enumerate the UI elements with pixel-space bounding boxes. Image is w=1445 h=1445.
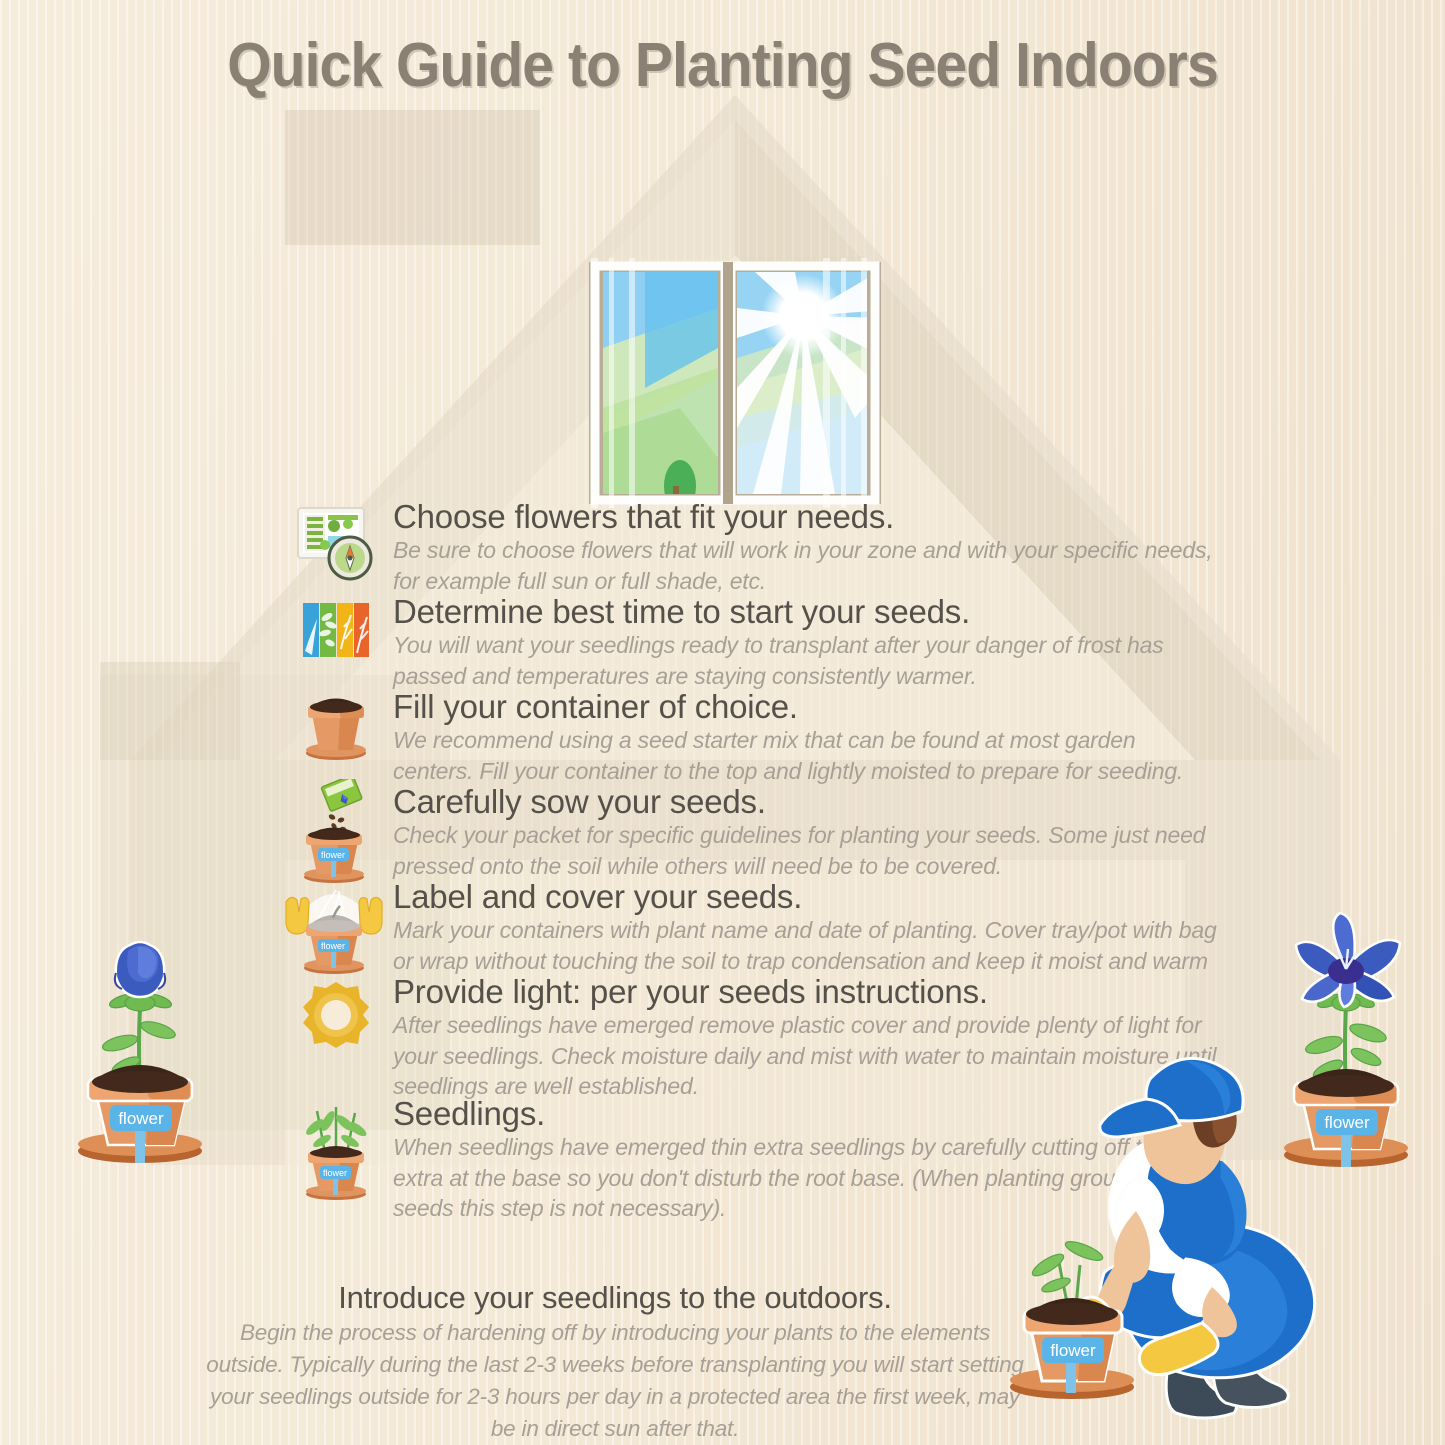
step-description: We recommend using a seed starter mix th… xyxy=(393,725,1218,786)
step-text: Carefully sow your seeds. Check your pac… xyxy=(393,785,1218,881)
step-description: Check your packet for specific guideline… xyxy=(393,820,1218,881)
step-heading: Choose flowers that fit your needs. xyxy=(393,500,1218,535)
sun-ring-icon xyxy=(288,981,383,1049)
step-description: Mark your containers with plant name and… xyxy=(393,915,1218,976)
svg-text:flower: flower xyxy=(321,941,345,951)
svg-text:flower: flower xyxy=(1324,1113,1370,1132)
seed-packet-pouring-icon: flower xyxy=(288,779,383,883)
step-item: Fill your container of choice. We recomm… xyxy=(288,690,1218,785)
window-illustration xyxy=(585,258,885,508)
outro-heading: Introduce your seedlings to the outdoors… xyxy=(200,1282,1030,1315)
svg-text:flower: flower xyxy=(320,850,344,860)
step-heading: Label and cover your seeds. xyxy=(393,880,1218,915)
potted-blue-rosebud-flower: flower xyxy=(68,915,218,1175)
filled-flower-pot-icon xyxy=(288,690,383,764)
infographic-canvas: Quick Guide to Planting Seed Indoors xyxy=(0,0,1445,1445)
outro-block: Introduce your seedlings to the outdoors… xyxy=(200,1282,1030,1445)
gloves-covering-pot-icon: flower xyxy=(284,876,379,974)
step-text: Label and cover your seeds. Mark your co… xyxy=(393,880,1218,976)
step-item: flower Label and cover your seeds. Mark … xyxy=(288,880,1218,975)
step-item: Choose flowers that fit your needs. Be s… xyxy=(288,500,1218,595)
svg-text:flower: flower xyxy=(118,1109,164,1128)
pot-with-seedlings-icon: flower xyxy=(288,1091,383,1201)
step-heading: Fill your container of choice. xyxy=(393,690,1218,725)
step-heading: Determine best time to start your seeds. xyxy=(393,595,1218,630)
step-item: Determine best time to start your seeds.… xyxy=(288,595,1218,690)
outro-description: Begin the process of hardening off by in… xyxy=(200,1317,1030,1445)
step-description: Be sure to choose flowers that will work… xyxy=(393,535,1218,596)
four-seasons-icon xyxy=(288,599,383,661)
kneeling-gardener-with-pot: flower xyxy=(1000,1035,1330,1440)
step-text: Determine best time to start your seeds.… xyxy=(393,595,1218,691)
step-text: Fill your container of choice. We recomm… xyxy=(393,690,1218,786)
step-text: Choose flowers that fit your needs. Be s… xyxy=(393,500,1218,596)
step-description: You will want your seedlings ready to tr… xyxy=(393,630,1218,691)
svg-text:flower: flower xyxy=(1050,1341,1096,1360)
svg-text:flower: flower xyxy=(322,1168,346,1178)
page-title: Quick Guide to Planting Seed Indoors xyxy=(58,30,1387,101)
garden-plan-compass-icon xyxy=(288,502,383,582)
step-heading: Carefully sow your seeds. xyxy=(393,785,1218,820)
step-heading: Provide light: per your seeds instructio… xyxy=(393,975,1218,1010)
step-item: flower Carefully sow your seeds. Check y… xyxy=(288,785,1218,880)
